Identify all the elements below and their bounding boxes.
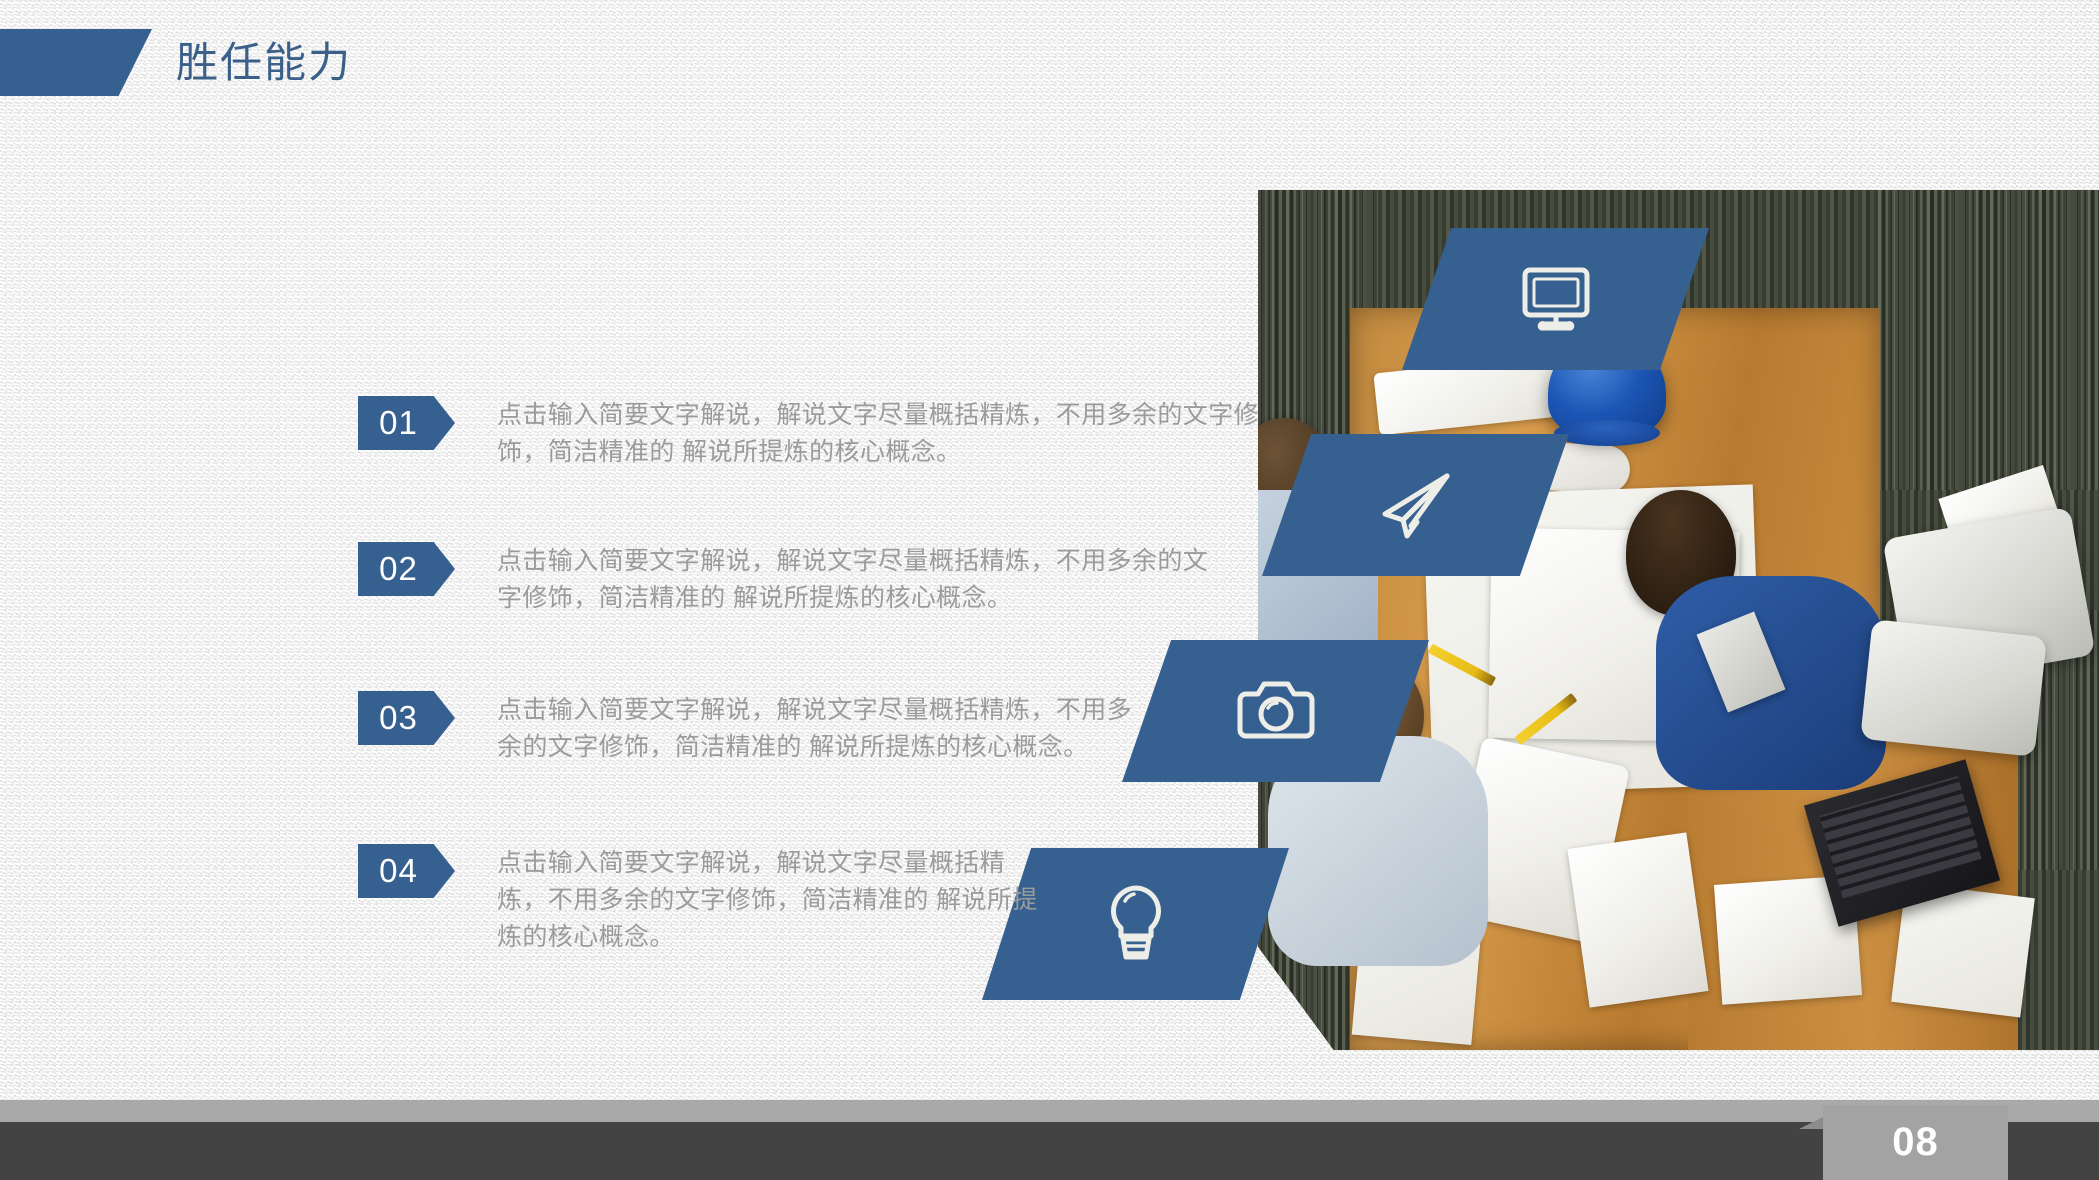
item-number: 04 bbox=[379, 852, 434, 890]
team-photo bbox=[1258, 190, 2099, 1050]
office-chair bbox=[1860, 619, 2047, 757]
item-number: 01 bbox=[379, 404, 434, 442]
item-description: 点击输入简要文字解说，解说文字尽量概括精炼，不用多余的文字修饰，简洁精准的 解说… bbox=[497, 396, 1297, 471]
floor-tile bbox=[1878, 190, 2099, 490]
list-item[interactable]: 03 点击输入简要文字解说，解说文字尽量概括精炼，不用多余的文字修饰，简洁精准的… bbox=[358, 691, 1157, 766]
page-title: 胜任能力 bbox=[176, 32, 352, 94]
list-item[interactable]: 04 点击输入简要文字解说，解说文字尽量概括精炼，不用多余的文字修饰，简洁精准的… bbox=[358, 844, 1045, 956]
page-number: 08 bbox=[1892, 1120, 1939, 1165]
footer-bar bbox=[0, 1122, 2099, 1180]
icon-panel-monitor[interactable] bbox=[1402, 228, 1709, 370]
item-number-badge: 01 bbox=[358, 396, 455, 450]
presentation-slide: 胜任能力 bbox=[0, 0, 2099, 1180]
camera-icon bbox=[1234, 678, 1318, 744]
paper-stack bbox=[1567, 832, 1708, 1007]
list-item[interactable]: 02 点击输入简要文字解说，解说文字尽量概括精炼，不用多余的文字修饰，简洁精准的… bbox=[358, 542, 1221, 617]
laptop-keyboard bbox=[1819, 776, 1981, 898]
list-item[interactable]: 01 点击输入简要文字解说，解说文字尽量概括精炼，不用多余的文字修饰，简洁精准的… bbox=[358, 396, 1297, 471]
item-number-badge: 04 bbox=[358, 844, 455, 898]
lightbulb-icon bbox=[1106, 883, 1166, 965]
page-number-badge: 08 bbox=[1823, 1105, 2008, 1180]
item-description: 点击输入简要文字解说，解说文字尽量概括精炼，不用多余的文字修饰，简洁精准的 解说… bbox=[497, 542, 1221, 617]
item-description: 点击输入简要文字解说，解说文字尽量概括精炼，不用多余的文字修饰，简洁精准的 解说… bbox=[497, 844, 1045, 956]
item-number: 03 bbox=[379, 699, 434, 737]
paper-plane-icon bbox=[1377, 470, 1455, 540]
item-description: 点击输入简要文字解说，解说文字尽量概括精炼，不用多余的文字修饰，简洁精准的 解说… bbox=[497, 691, 1157, 766]
item-number-badge: 02 bbox=[358, 542, 455, 596]
item-number-badge: 03 bbox=[358, 691, 455, 745]
icon-panel-camera[interactable] bbox=[1122, 640, 1429, 782]
icon-panel-paper-plane[interactable] bbox=[1262, 434, 1569, 576]
item-number: 02 bbox=[379, 550, 434, 588]
footer-accent-strip bbox=[0, 1100, 2099, 1122]
monitor-icon bbox=[1519, 265, 1593, 333]
